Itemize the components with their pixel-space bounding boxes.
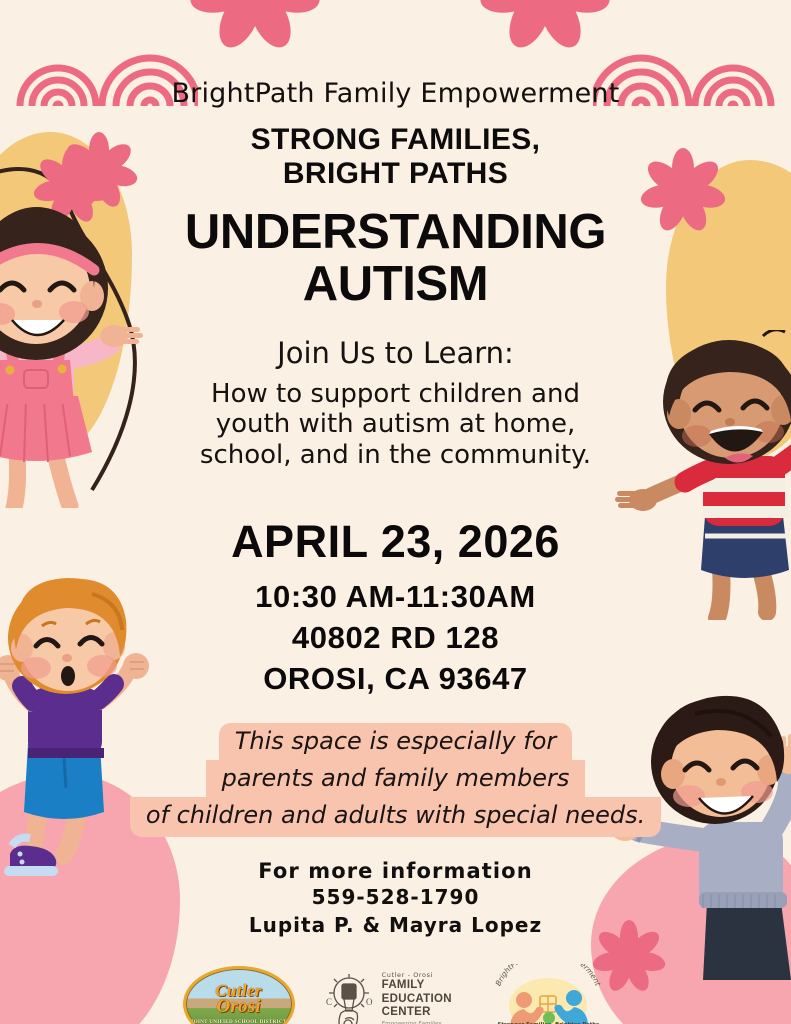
tagline-line-2: BRIGHT PATHS: [251, 157, 541, 191]
event-date: APRIL 23, 2026: [231, 516, 560, 568]
fec-logo-line-3: CENTER: [382, 1006, 461, 1019]
svg-text:O: O: [366, 997, 373, 1007]
logo-row: Cutler Orosi JOINT UNIFIED SCHOOL DISTRI…: [183, 962, 609, 1024]
audience-highlight-box: This space is especially for parents and…: [166, 723, 626, 837]
event-city-state-zip: OROSI, CA 93647: [263, 659, 528, 700]
description-line-1: How to support children and: [200, 379, 591, 409]
highlight-line-3: of children and adults with special need…: [130, 797, 661, 837]
brightpath-family-figures-icon: [488, 978, 608, 1024]
fec-logo-kicker: Cutler - Orosi: [382, 971, 461, 979]
event-address: 40802 RD 128: [292, 618, 499, 659]
title-line-2: AUTISM: [185, 259, 606, 310]
event-title: UNDERSTANDING AUTISM: [185, 191, 606, 310]
fec-lighthouse-icon: C O: [323, 973, 375, 1024]
event-time: 10:30 AM-11:30AM: [255, 577, 536, 618]
logo-family-education-center: C O Cutler - Orosi FAMILY EDUCATION CENT…: [323, 971, 461, 1024]
contact-phone[interactable]: 559-528-1790: [312, 883, 480, 911]
svg-text:C: C: [326, 997, 332, 1007]
flyer-page: BrightPath Family Empowerment STRONG FAM…: [0, 0, 791, 1024]
description-line-3: school, and in the community.: [200, 440, 591, 470]
logo-brightpath: BrightPath Family Empowerment: [488, 962, 608, 1024]
join-us-label: Join Us to Learn:: [277, 336, 514, 370]
organization-name: BrightPath Family Empowerment: [171, 78, 619, 109]
cutler-logo-word-2: Orosi: [216, 998, 260, 1016]
event-description: How to support children and youth with a…: [200, 370, 591, 469]
flyer-content: BrightPath Family Empowerment STRONG FAM…: [0, 0, 791, 1024]
tagline: STRONG FAMILIES, BRIGHT PATHS: [251, 109, 541, 191]
fec-logo-line-2: EDUCATION: [382, 993, 461, 1006]
contact-names: Lupita P. & Mayra Lopez: [249, 911, 542, 939]
cutler-logo-subtitle: JOINT UNIFIED SCHOOL DISTRICT: [191, 1019, 287, 1024]
description-line-2: youth with autism at home,: [200, 409, 591, 439]
highlight-line-1: This space is especially for: [219, 723, 573, 760]
title-line-1: UNDERSTANDING: [185, 207, 606, 258]
logo-cutler-orosi-jusd: Cutler Orosi JOINT UNIFIED SCHOOL DISTRI…: [183, 966, 295, 1024]
highlight-line-2: parents and family members: [206, 760, 586, 797]
fec-logo-line-1: FAMILY: [382, 979, 461, 992]
tagline-line-1: STRONG FAMILIES,: [251, 123, 541, 157]
contact-heading: For more information: [258, 859, 533, 883]
